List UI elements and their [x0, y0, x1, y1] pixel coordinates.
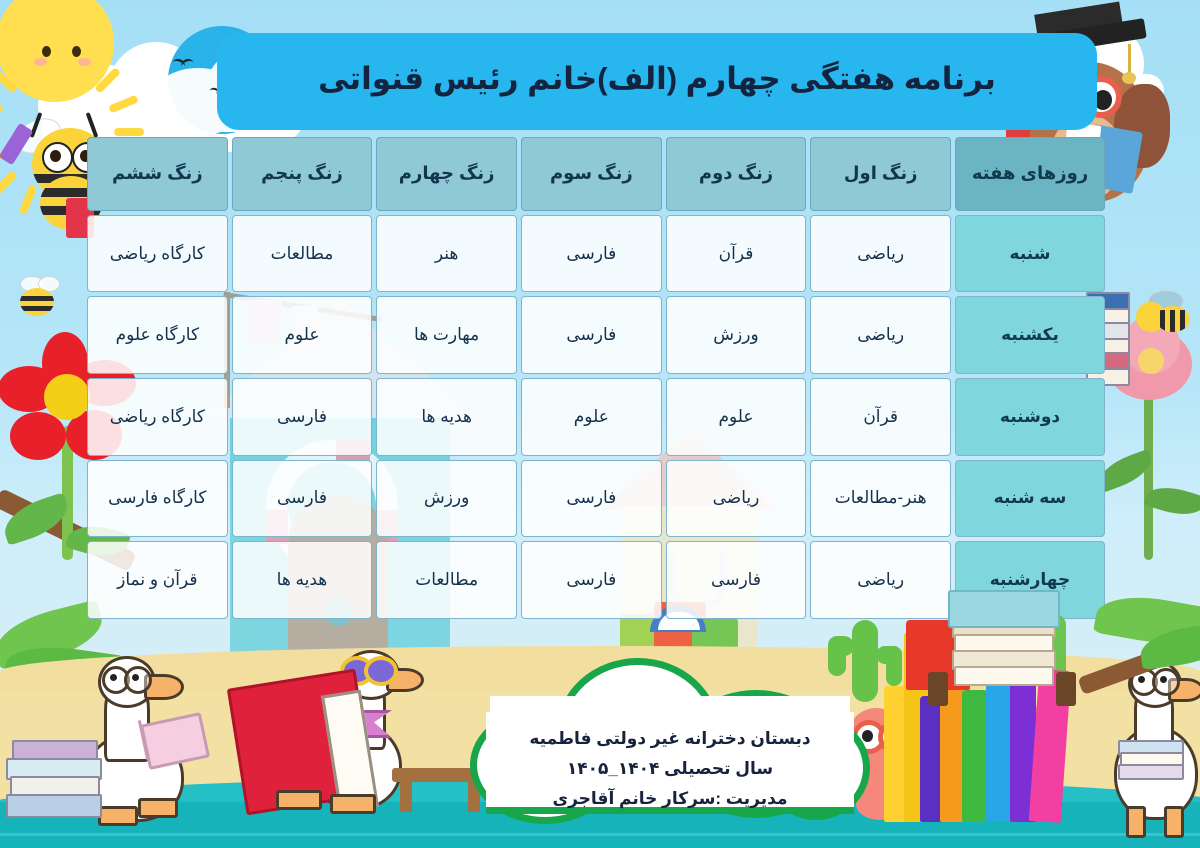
- subject-cell: کارگاه علوم: [87, 296, 228, 374]
- bee-icon: [1128, 290, 1194, 344]
- footer-cloud: دبستان دخترانه غیر دولتی فاطمیه سال تحصی…: [470, 650, 870, 826]
- goose-sunglasses-icon: [214, 648, 424, 823]
- subject-cell: کارگاه ریاضی: [87, 378, 228, 456]
- subject-cell: فارسی: [666, 541, 807, 619]
- school-name: دبستان دخترانه غیر دولتی فاطمیه: [470, 724, 870, 754]
- subject-cell: هدیه ها: [376, 378, 517, 456]
- subject-cell: مطالعات: [376, 541, 517, 619]
- header-period-2: زنگ دوم: [666, 137, 807, 211]
- book-icon: [1056, 672, 1076, 706]
- subject-cell: ریاضی: [666, 460, 807, 538]
- title-banner: برنامه هفتگی چهارم (الف)خانم رئیس قنواتی: [217, 33, 1097, 130]
- subject-cell: ریاضی: [810, 296, 951, 374]
- header-days: روزهای هفته: [955, 137, 1105, 211]
- page-title: برنامه هفتگی چهارم (الف)خانم رئیس قنواتی: [217, 33, 1097, 130]
- day-label: شنبه: [955, 215, 1105, 293]
- subject-cell: کارگاه فارسی: [87, 460, 228, 538]
- subject-cell: قرآن: [810, 378, 951, 456]
- sea-highlight: [0, 833, 1200, 836]
- header-period-4: زنگ چهارم: [376, 137, 517, 211]
- day-label: یکشنبه: [955, 296, 1105, 374]
- header-period-3: زنگ سوم: [521, 137, 662, 211]
- table-row: شنبه ریاضی قرآن فارسی هنر مطالعات کارگاه…: [87, 215, 1105, 293]
- table-row: یکشنبه ریاضی ورزش فارسی مهارت ها علوم کا…: [87, 296, 1105, 374]
- header-period-5: زنگ پنجم: [232, 137, 373, 211]
- book-stack-icon: [6, 740, 96, 816]
- subject-cell: ریاضی: [810, 541, 951, 619]
- subject-cell: هنر: [376, 215, 517, 293]
- subject-cell: مهارت ها: [376, 296, 517, 374]
- subject-cell: ریاضی: [810, 215, 951, 293]
- subject-cell: علوم: [232, 296, 373, 374]
- day-label: دوشنبه: [955, 378, 1105, 456]
- subject-cell: فارسی: [232, 378, 373, 456]
- subject-cell: ورزش: [666, 296, 807, 374]
- subject-cell: فارسی: [232, 460, 373, 538]
- day-label: سه شنبه: [955, 460, 1105, 538]
- table-row: سه شنبه هنر-مطالعات ریاضی فارسی ورزش فار…: [87, 460, 1105, 538]
- subject-cell: فارسی: [521, 215, 662, 293]
- header-period-1: زنگ اول: [810, 137, 951, 211]
- subject-cell: فارسی: [521, 296, 662, 374]
- subject-cell: هنر-مطالعات: [810, 460, 951, 538]
- bird-icon: [172, 59, 194, 69]
- subject-cell: قرآن و نماز: [87, 541, 228, 619]
- subject-cell: کارگاه ریاضی: [87, 215, 228, 293]
- poster-canvas: برنامه هفتگی چهارم (الف)خانم رئیس قنواتی…: [0, 0, 1200, 848]
- bee-icon: [10, 276, 62, 320]
- academic-year: سال تحصیلی ۱۴۰۴_۱۴۰۵: [470, 754, 870, 784]
- book-icon: [928, 672, 948, 706]
- subject-cell: فارسی: [521, 541, 662, 619]
- subject-cell: علوم: [521, 378, 662, 456]
- principal-name: مدیریت :سرکار خانم آقاجری: [470, 784, 870, 814]
- book-icon: [948, 590, 1060, 628]
- table-row: دوشنبه قرآن علوم علوم هدیه ها فارسی کارگ…: [87, 378, 1105, 456]
- table-header-row: روزهای هفته زنگ اول زنگ دوم زنگ سوم زنگ …: [87, 137, 1105, 211]
- subject-cell: مطالعات: [232, 215, 373, 293]
- subject-cell: علوم: [666, 378, 807, 456]
- subject-cell: فارسی: [521, 460, 662, 538]
- header-period-6: زنگ ششم: [87, 137, 228, 211]
- subject-cell: ورزش: [376, 460, 517, 538]
- subject-cell: قرآن: [666, 215, 807, 293]
- book-stack-icon: [952, 618, 1052, 694]
- subject-cell: هدیه ها: [232, 541, 373, 619]
- weekly-schedule-table: روزهای هفته زنگ اول زنگ دوم زنگ سوم زنگ …: [87, 137, 1105, 619]
